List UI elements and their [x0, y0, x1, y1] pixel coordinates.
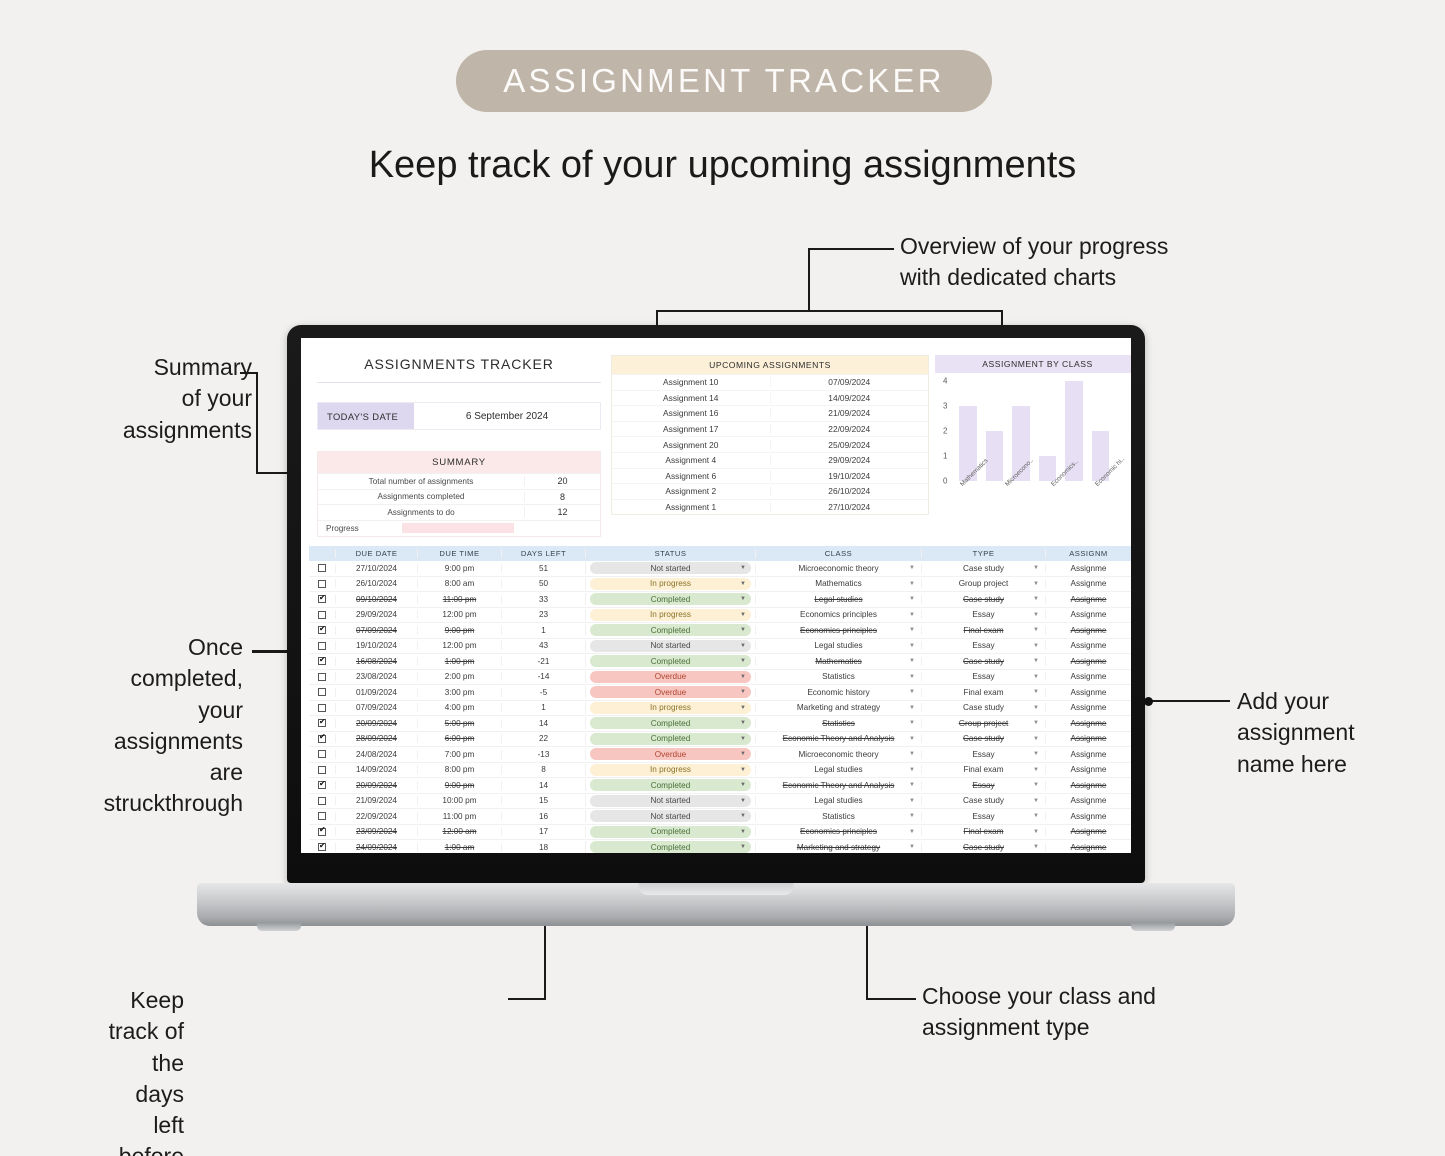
cell-class[interactable]: Microeconomic theory▼ — [755, 750, 921, 759]
type-label: Group project — [959, 579, 1009, 588]
chevron-down-icon[interactable]: ▼ — [740, 612, 746, 618]
cell-assignment[interactable]: Assignme — [1045, 626, 1131, 635]
type-label: Case study — [963, 595, 1004, 604]
row-checkbox-cell[interactable] — [309, 828, 335, 836]
chevron-down-icon[interactable]: ▼ — [740, 798, 746, 804]
status-badge[interactable]: Completed▼ — [590, 779, 751, 791]
upcoming-heading: UPCOMING ASSIGNMENTS — [612, 356, 928, 374]
cell-days-left: 14 — [501, 781, 585, 790]
cell-assignment[interactable]: Assignme — [1045, 796, 1131, 805]
row-checkbox-cell[interactable] — [309, 766, 335, 774]
table-header-due-time[interactable]: DUE TIME — [417, 549, 501, 558]
row-checkbox-cell[interactable] — [309, 673, 335, 681]
cell-status[interactable]: Overdue▼ — [585, 748, 755, 760]
row-checkbox-cell[interactable] — [309, 781, 335, 789]
chevron-down-icon[interactable]: ▼ — [1033, 643, 1039, 649]
cell-type[interactable]: Final exam▼ — [921, 626, 1045, 635]
completed-checkbox[interactable] — [318, 673, 326, 681]
chevron-down-icon[interactable]: ▼ — [740, 844, 746, 850]
laptop-foot-left — [257, 923, 301, 931]
cell-due-time[interactable]: 7:00 pm — [417, 750, 501, 759]
chart-y-tick: 0 — [943, 477, 947, 486]
cell-type[interactable]: Final exam▼ — [921, 827, 1045, 836]
status-badge[interactable]: Completed▼ — [590, 593, 751, 605]
cell-due-time[interactable]: 11:00 pm — [417, 812, 501, 821]
chevron-down-icon[interactable]: ▼ — [909, 736, 915, 742]
row-checkbox-cell[interactable] — [309, 580, 335, 588]
cell-days-left: 17 — [501, 827, 585, 836]
cell-due-time[interactable]: 9:00 pm — [417, 564, 501, 573]
upcoming-name: Assignment 14 — [612, 393, 770, 403]
sheet-title: ASSIGNMENTS TRACKER — [317, 356, 601, 383]
callout-summary: Summary of your assignments — [40, 352, 252, 446]
cell-due-date[interactable]: 09/10/2024 — [335, 595, 417, 604]
cell-due-time[interactable]: 12:00 pm — [417, 641, 501, 650]
cell-type[interactable]: Essay▼ — [921, 641, 1045, 650]
cell-due-date[interactable]: 27/10/2024 — [335, 564, 417, 573]
cell-assignment[interactable]: Assignme — [1045, 595, 1131, 604]
table-header-type[interactable]: TYPE — [921, 549, 1045, 558]
cell-due-time[interactable]: 9:00 pm — [417, 781, 501, 790]
chevron-down-icon[interactable]: ▼ — [909, 798, 915, 804]
upcoming-name: Assignment 10 — [612, 377, 770, 387]
cell-days-left: 23 — [501, 610, 585, 619]
chevron-down-icon[interactable]: ▼ — [740, 782, 746, 788]
leader-line-overview-h — [808, 248, 894, 250]
cell-status[interactable]: In progress▼ — [585, 609, 755, 621]
cell-class[interactable]: Economics principles▼ — [755, 626, 921, 635]
summary-row-label: Total number of assignments — [318, 477, 524, 486]
cell-status[interactable]: Not started▼ — [585, 795, 755, 807]
cell-days-left: 15 — [501, 796, 585, 805]
status-badge[interactable]: In progress▼ — [590, 578, 751, 590]
class-label: Legal studies — [814, 641, 862, 650]
cell-assignment[interactable]: Assignme — [1045, 719, 1131, 728]
completed-checkbox[interactable] — [318, 580, 326, 588]
class-label: Microeconomic theory — [798, 750, 878, 759]
cell-type[interactable]: Essay▼ — [921, 610, 1045, 619]
cell-type[interactable]: Case study▼ — [921, 595, 1045, 604]
cell-type[interactable]: Group project▼ — [921, 579, 1045, 588]
completed-checkbox[interactable] — [318, 828, 326, 836]
chevron-down-icon[interactable]: ▼ — [909, 751, 915, 757]
chevron-down-icon[interactable]: ▼ — [1033, 658, 1039, 664]
completed-checkbox[interactable] — [318, 688, 326, 696]
cell-class[interactable]: Legal studies▼ — [755, 595, 921, 604]
class-label: Legal studies — [814, 595, 862, 604]
chart-y-tick: 1 — [943, 452, 947, 461]
cell-due-date[interactable]: 21/09/2024 — [335, 796, 417, 805]
chevron-down-icon[interactable]: ▼ — [909, 767, 915, 773]
status-label: Completed — [651, 843, 691, 852]
status-badge[interactable]: Completed▼ — [590, 655, 751, 667]
summary-row: Assignments to do 12 — [318, 504, 600, 520]
cell-type[interactable]: Case study▼ — [921, 564, 1045, 573]
cell-status[interactable]: Completed▼ — [585, 717, 755, 729]
cell-status[interactable]: In progress▼ — [585, 764, 755, 776]
chevron-down-icon[interactable]: ▼ — [1033, 720, 1039, 726]
cell-due-date[interactable]: 14/09/2024 — [335, 765, 417, 774]
type-label: Group project — [959, 719, 1009, 728]
row-checkbox-cell[interactable] — [309, 750, 335, 758]
cell-status[interactable]: Completed▼ — [585, 779, 755, 791]
chevron-down-icon[interactable]: ▼ — [1033, 736, 1039, 742]
chevron-down-icon[interactable]: ▼ — [1033, 565, 1039, 571]
status-badge[interactable]: In progress▼ — [590, 764, 751, 776]
row-checkbox-cell[interactable] — [309, 843, 335, 851]
completed-checkbox[interactable] — [318, 750, 326, 758]
chevron-down-icon[interactable]: ▼ — [909, 720, 915, 726]
row-checkbox-cell[interactable] — [309, 611, 335, 619]
cell-status[interactable]: Not started▼ — [585, 810, 755, 822]
completed-checkbox[interactable] — [318, 611, 326, 619]
table-row: 09/10/202411:00 pm33Completed▼Legal stud… — [309, 592, 1131, 608]
row-checkbox-cell[interactable] — [309, 595, 335, 603]
cell-due-date[interactable]: 07/09/2024 — [335, 626, 417, 635]
cell-assignment[interactable]: Assignme — [1045, 703, 1131, 712]
cell-due-date[interactable]: 23/08/2024 — [335, 672, 417, 681]
cell-assignment[interactable]: Assignme — [1045, 641, 1131, 650]
cell-due-date[interactable]: 22/09/2024 — [335, 812, 417, 821]
chevron-down-icon[interactable]: ▼ — [1033, 596, 1039, 602]
cell-assignment[interactable]: Assignme — [1045, 579, 1131, 588]
chevron-down-icon[interactable]: ▼ — [740, 736, 746, 742]
cell-class[interactable]: Mathematics▼ — [755, 657, 921, 666]
cell-class[interactable]: Economic history▼ — [755, 688, 921, 697]
cell-due-date[interactable]: 26/10/2024 — [335, 579, 417, 588]
cell-status[interactable]: Completed▼ — [585, 733, 755, 745]
cell-assignment[interactable]: Assignme — [1045, 843, 1131, 852]
cell-assignment[interactable]: Assignme — [1045, 657, 1131, 666]
chevron-down-icon[interactable]: ▼ — [740, 596, 746, 602]
chevron-down-icon[interactable]: ▼ — [1033, 705, 1039, 711]
chevron-down-icon[interactable]: ▼ — [740, 627, 746, 633]
laptop-screen: ASSIGNMENTS TRACKER TODAY'S DATE 6 Septe… — [301, 338, 1131, 853]
cell-type[interactable]: Case study▼ — [921, 796, 1045, 805]
cell-due-time[interactable]: 1:00 am — [417, 843, 501, 852]
chevron-down-icon[interactable]: ▼ — [909, 565, 915, 571]
cell-assignment[interactable]: Assignme — [1045, 781, 1131, 790]
cell-class[interactable]: Statistics▼ — [755, 812, 921, 821]
chevron-down-icon[interactable]: ▼ — [1033, 612, 1039, 618]
cell-due-date[interactable]: 07/09/2024 — [335, 703, 417, 712]
chevron-down-icon[interactable]: ▼ — [1033, 844, 1039, 850]
cell-due-date[interactable]: 28/09/2024 — [335, 734, 417, 743]
completed-checkbox[interactable] — [318, 642, 326, 650]
cell-due-time[interactable]: 10:00 pm — [417, 796, 501, 805]
table-body: 27/10/20249:00 pm51Not started▼Microecon… — [309, 561, 1131, 853]
chevron-down-icon[interactable]: ▼ — [909, 643, 915, 649]
cell-type[interactable]: Case study▼ — [921, 734, 1045, 743]
chevron-down-icon[interactable]: ▼ — [909, 829, 915, 835]
chevron-down-icon[interactable]: ▼ — [909, 705, 915, 711]
laptop-base — [197, 883, 1235, 926]
laptop-foot-right — [1131, 923, 1175, 931]
table-row: 24/09/20241:00 am18Completed▼Marketing a… — [309, 840, 1131, 853]
status-badge[interactable]: Completed▼ — [590, 733, 751, 745]
cell-status[interactable]: Completed▼ — [585, 593, 755, 605]
row-checkbox-cell[interactable] — [309, 626, 335, 634]
class-label: Statistics — [822, 719, 855, 728]
status-badge[interactable]: Completed▼ — [590, 624, 751, 636]
cell-due-time[interactable]: 8:00 am — [417, 579, 501, 588]
todays-date-row: TODAY'S DATE 6 September 2024 — [317, 402, 601, 430]
chevron-down-icon[interactable]: ▼ — [1033, 627, 1039, 633]
row-checkbox-cell[interactable] — [309, 812, 335, 820]
cell-status[interactable]: In progress▼ — [585, 578, 755, 590]
cell-due-time[interactable]: 8:00 pm — [417, 765, 501, 774]
status-label: Not started — [650, 641, 690, 650]
cell-due-time[interactable]: 4:00 pm — [417, 703, 501, 712]
summary-row-value: 20 — [524, 476, 600, 486]
status-badge[interactable]: Overdue▼ — [590, 671, 751, 683]
chevron-down-icon[interactable]: ▼ — [740, 829, 746, 835]
table-header-assignment[interactable]: ASSIGNM — [1045, 549, 1131, 558]
cell-due-date[interactable]: 24/08/2024 — [335, 750, 417, 759]
progress-bar — [402, 523, 514, 533]
chevron-down-icon[interactable]: ▼ — [1033, 829, 1039, 835]
cell-assignment[interactable]: Assignme — [1045, 812, 1131, 821]
chevron-down-icon[interactable]: ▼ — [740, 565, 746, 571]
status-badge[interactable]: Completed▼ — [590, 826, 751, 838]
cell-due-date[interactable]: 24/09/2024 — [335, 843, 417, 852]
row-checkbox-cell[interactable] — [309, 657, 335, 665]
cell-type[interactable]: Essay▼ — [921, 781, 1045, 790]
cell-type[interactable]: Essay▼ — [921, 812, 1045, 821]
completed-checkbox[interactable] — [318, 595, 326, 603]
cell-class[interactable]: Statistics▼ — [755, 672, 921, 681]
completed-checkbox[interactable] — [318, 704, 326, 712]
status-badge[interactable]: Completed▼ — [590, 841, 751, 853]
cell-assignment[interactable]: Assignme — [1045, 827, 1131, 836]
cell-due-time[interactable]: 2:00 pm — [417, 672, 501, 681]
status-badge[interactable]: Completed▼ — [590, 717, 751, 729]
completed-checkbox[interactable] — [318, 719, 326, 727]
chevron-down-icon[interactable]: ▼ — [909, 844, 915, 850]
cell-class[interactable]: Economic Theory and Analysis▼ — [755, 734, 921, 743]
cell-due-time[interactable]: 6:00 pm — [417, 734, 501, 743]
leader-line-add — [1148, 700, 1230, 702]
cell-type[interactable]: Case study▼ — [921, 703, 1045, 712]
cell-status[interactable]: In progress▼ — [585, 702, 755, 714]
cell-class[interactable]: Legal studies▼ — [755, 765, 921, 774]
chevron-down-icon[interactable]: ▼ — [740, 581, 746, 587]
cell-status[interactable]: Completed▼ — [585, 624, 755, 636]
laptop-notch — [639, 883, 794, 895]
cell-due-time[interactable]: 12:00 am — [417, 827, 501, 836]
chevron-down-icon[interactable]: ▼ — [909, 627, 915, 633]
chevron-down-icon[interactable]: ▼ — [909, 674, 915, 680]
cell-class[interactable]: Economics principles▼ — [755, 610, 921, 619]
status-badge[interactable]: Overdue▼ — [590, 748, 751, 760]
row-checkbox-cell[interactable] — [309, 564, 335, 572]
upcoming-date: 27/10/2024 — [770, 502, 929, 512]
chevron-down-icon[interactable]: ▼ — [909, 782, 915, 788]
status-badge[interactable]: Overdue▼ — [590, 686, 751, 698]
cell-due-time[interactable]: 3:00 pm — [417, 688, 501, 697]
chevron-down-icon[interactable]: ▼ — [1033, 813, 1039, 819]
cell-due-date[interactable]: 20/09/2024 — [335, 781, 417, 790]
chevron-down-icon[interactable]: ▼ — [1033, 674, 1039, 680]
completed-checkbox[interactable] — [318, 626, 326, 634]
completed-checkbox[interactable] — [318, 781, 326, 789]
cell-class[interactable]: Microeconomic theory▼ — [755, 564, 921, 573]
table-row: 22/09/202411:00 pm16Not started▼Statisti… — [309, 809, 1131, 825]
row-checkbox-cell[interactable] — [309, 797, 335, 805]
cell-assignment[interactable]: Assignme — [1045, 765, 1131, 774]
class-label: Mathematics — [815, 579, 861, 588]
cell-class[interactable]: Marketing and strategy▼ — [755, 843, 921, 852]
row-checkbox-cell[interactable] — [309, 719, 335, 727]
cell-class[interactable]: Marketing and strategy▼ — [755, 703, 921, 712]
progress-label: Progress — [318, 524, 402, 533]
upcoming-name: Assignment 6 — [612, 471, 770, 481]
type-label: Essay — [972, 781, 994, 790]
chevron-down-icon[interactable]: ▼ — [1033, 751, 1039, 757]
type-label: Case study — [963, 843, 1004, 852]
cell-class[interactable]: Economic Theory and Analysis▼ — [755, 781, 921, 790]
cell-status[interactable]: Overdue▼ — [585, 671, 755, 683]
completed-checkbox[interactable] — [318, 812, 326, 820]
cell-class[interactable]: Economics principles▼ — [755, 827, 921, 836]
cell-due-time[interactable]: 1:00 pm — [417, 657, 501, 666]
chevron-down-icon[interactable]: ▼ — [740, 658, 746, 664]
chevron-down-icon[interactable]: ▼ — [740, 813, 746, 819]
chevron-down-icon[interactable]: ▼ — [909, 581, 915, 587]
chevron-down-icon[interactable]: ▼ — [1033, 689, 1039, 695]
chevron-down-icon[interactable]: ▼ — [909, 596, 915, 602]
page-title: ASSIGNMENT TRACKER — [503, 62, 944, 100]
cell-due-date[interactable]: 16/08/2024 — [335, 657, 417, 666]
leader-dot-add — [1144, 697, 1153, 706]
status-badge[interactable]: Not started▼ — [590, 810, 751, 822]
cell-status[interactable]: Overdue▼ — [585, 686, 755, 698]
completed-checkbox[interactable] — [318, 843, 326, 851]
upcoming-name: Assignment 2 — [612, 486, 770, 496]
chevron-down-icon[interactable]: ▼ — [1033, 767, 1039, 773]
leader-line-overview-b — [656, 310, 1003, 312]
status-badge[interactable]: Not started▼ — [590, 562, 751, 574]
cell-assignment[interactable]: Assignme — [1045, 610, 1131, 619]
chevron-down-icon[interactable]: ▼ — [740, 720, 746, 726]
chart-title: ASSIGNMENT BY CLASS — [935, 355, 1131, 373]
cell-type[interactable]: Case study▼ — [921, 657, 1045, 666]
row-checkbox-cell[interactable] — [309, 735, 335, 743]
chevron-down-icon[interactable]: ▼ — [740, 767, 746, 773]
chevron-down-icon[interactable]: ▼ — [1033, 782, 1039, 788]
cell-status[interactable]: Completed▼ — [585, 655, 755, 667]
completed-checkbox[interactable] — [318, 735, 326, 743]
chevron-down-icon[interactable]: ▼ — [909, 689, 915, 695]
cell-due-time[interactable]: 5:00 pm — [417, 719, 501, 728]
cell-status[interactable]: Completed▼ — [585, 841, 755, 853]
chevron-down-icon[interactable]: ▼ — [740, 674, 746, 680]
cell-due-date[interactable]: 20/09/2024 — [335, 719, 417, 728]
status-label: Completed — [651, 719, 691, 728]
chevron-down-icon[interactable]: ▼ — [740, 705, 746, 711]
cell-assignment[interactable]: Assignme — [1045, 672, 1131, 681]
upcoming-date: 25/09/2024 — [770, 440, 929, 450]
cell-class[interactable]: Legal studies▼ — [755, 641, 921, 650]
cell-status[interactable]: Completed▼ — [585, 826, 755, 838]
table-row: 16/08/20241:00 pm-21Completed▼Mathematic… — [309, 654, 1131, 670]
cell-assignment[interactable]: Assignme — [1045, 564, 1131, 573]
laptop-mockup: ASSIGNMENTS TRACKER TODAY'S DATE 6 Septe… — [287, 325, 1145, 885]
row-checkbox-cell[interactable] — [309, 704, 335, 712]
cell-class[interactable]: Mathematics▼ — [755, 579, 921, 588]
cell-class[interactable]: Statistics▼ — [755, 719, 921, 728]
table-header-class[interactable]: CLASS — [755, 549, 921, 558]
chevron-down-icon[interactable]: ▼ — [909, 813, 915, 819]
status-badge[interactable]: Not started▼ — [590, 640, 751, 652]
cell-due-date[interactable]: 19/10/2024 — [335, 641, 417, 650]
upcoming-row: Assignment 2025/09/2024 — [612, 436, 928, 452]
row-checkbox-cell[interactable] — [309, 642, 335, 650]
chevron-down-icon[interactable]: ▼ — [740, 751, 746, 757]
cell-type[interactable]: Final exam▼ — [921, 765, 1045, 774]
chevron-down-icon[interactable]: ▼ — [740, 689, 746, 695]
cell-status[interactable]: Not started▼ — [585, 640, 755, 652]
cell-type[interactable]: Final exam▼ — [921, 688, 1045, 697]
status-badge[interactable]: In progress▼ — [590, 702, 751, 714]
upcoming-name: Assignment 20 — [612, 440, 770, 450]
type-label: Case study — [963, 796, 1004, 805]
cell-assignment[interactable]: Assignme — [1045, 734, 1131, 743]
completed-checkbox[interactable] — [318, 766, 326, 774]
cell-assignment[interactable]: Assignme — [1045, 750, 1131, 759]
cell-due-time[interactable]: 11:00 pm — [417, 595, 501, 604]
cell-due-time[interactable]: 9:00 pm — [417, 626, 501, 635]
cell-due-date[interactable]: 23/09/2024 — [335, 827, 417, 836]
cell-type[interactable]: Case study▼ — [921, 843, 1045, 852]
cell-due-date[interactable]: 01/09/2024 — [335, 688, 417, 697]
table-header-due-date[interactable]: DUE DATE — [335, 549, 417, 558]
cell-type[interactable]: Group project▼ — [921, 719, 1045, 728]
cell-class[interactable]: Legal studies▼ — [755, 796, 921, 805]
status-badge[interactable]: In progress▼ — [590, 609, 751, 621]
chevron-down-icon[interactable]: ▼ — [1033, 798, 1039, 804]
completed-checkbox[interactable] — [318, 797, 326, 805]
table-row: 14/09/20248:00 pm8In progress▼Legal stud… — [309, 763, 1131, 779]
todays-date-value[interactable]: 6 September 2024 — [414, 403, 600, 429]
cell-due-date[interactable]: 29/09/2024 — [335, 610, 417, 619]
cell-assignment[interactable]: Assignme — [1045, 688, 1131, 697]
cell-days-left: 43 — [501, 641, 585, 650]
cell-due-time[interactable]: 12:00 pm — [417, 610, 501, 619]
chevron-down-icon[interactable]: ▼ — [1033, 581, 1039, 587]
completed-checkbox[interactable] — [318, 657, 326, 665]
table-row: 23/09/202412:00 am17Completed▼Economics … — [309, 825, 1131, 841]
class-label: Statistics — [822, 812, 855, 821]
cell-type[interactable]: Essay▼ — [921, 750, 1045, 759]
chevron-down-icon[interactable]: ▼ — [909, 612, 915, 618]
cell-type[interactable]: Essay▼ — [921, 672, 1045, 681]
cell-days-left: 50 — [501, 579, 585, 588]
table-header-status[interactable]: STATUS — [585, 549, 755, 558]
chevron-down-icon[interactable]: ▼ — [909, 658, 915, 664]
table-header-days-left[interactable]: DAYS LEFT — [501, 549, 585, 558]
cell-status[interactable]: Not started▼ — [585, 562, 755, 574]
upcoming-row: Assignment 1007/09/2024 — [612, 374, 928, 390]
callout-struckthrough: Once completed, your assignments are str… — [18, 632, 243, 820]
status-badge[interactable]: Not started▼ — [590, 795, 751, 807]
completed-checkbox[interactable] — [318, 564, 326, 572]
row-checkbox-cell[interactable] — [309, 688, 335, 696]
chevron-down-icon[interactable]: ▼ — [740, 643, 746, 649]
status-label: Completed — [651, 595, 691, 604]
upcoming-date: 26/10/2024 — [770, 486, 929, 496]
class-label: Microeconomic theory — [798, 564, 878, 573]
